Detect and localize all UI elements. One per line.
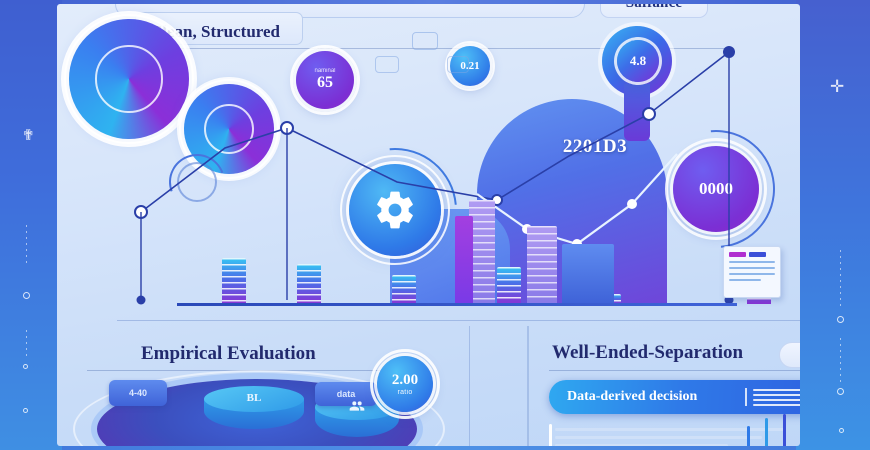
wireframe-node [412, 32, 438, 50]
dotted-divider [840, 250, 841, 310]
bar-item [297, 264, 321, 304]
tag-left[interactable]: 4-40 [109, 380, 167, 406]
doc-text-line [729, 279, 761, 281]
dashboard-canvas: Saffance Clean, Structured 2201D3 [57, 4, 800, 446]
mini-bar-group [747, 418, 800, 446]
pill-divider [745, 388, 747, 406]
decision-pill-button[interactable]: Data-derived decision [549, 380, 800, 414]
disc-primary: BL [204, 386, 304, 430]
bar-item [392, 275, 416, 304]
document-card-tabs [729, 252, 775, 257]
bottom-panel-divider-accent [527, 326, 529, 446]
disc-primary-label: BL [204, 392, 304, 404]
mini-bar [747, 426, 750, 446]
bottom-right-heading: Well-Ended-Separation [552, 342, 743, 364]
data-point-marker [135, 206, 147, 218]
bar-item [222, 258, 246, 304]
users-icon [347, 398, 367, 414]
dotted-divider [840, 338, 841, 382]
doc-text-line [729, 273, 775, 275]
doc-text-line [729, 261, 775, 263]
wireframe-node [375, 56, 399, 73]
mini-bar [765, 418, 768, 446]
panel-separator [117, 320, 800, 321]
frame-left-band: ✟ [0, 0, 62, 450]
settings-toggle[interactable] [779, 342, 800, 368]
tag-right[interactable]: data [315, 382, 377, 406]
data-point-marker [281, 122, 293, 134]
plus-sparkle-icon: ✛ [830, 78, 844, 95]
top-right-pill-label: Saffance [626, 4, 683, 12]
badge-ratio-ring [370, 349, 440, 419]
poster-root: ✟ ✛ Saffance Clean, Structured 2201D3 [0, 0, 870, 450]
top-right-pill-button[interactable]: Saffance [600, 4, 708, 18]
bar-item [497, 267, 521, 304]
sparkle-icon: ✟ [22, 128, 35, 143]
mini-bar [783, 414, 786, 446]
dot-marker-icon [23, 292, 30, 299]
document-card[interactable] [723, 246, 781, 298]
dot-marker-icon [839, 428, 844, 433]
badge-purple-ring [290, 45, 360, 115]
dotted-divider [26, 330, 27, 358]
dot-marker-icon [837, 388, 844, 395]
wireframe-node [447, 56, 469, 73]
bottom-right-rule [549, 370, 800, 371]
axis-dot [137, 296, 146, 305]
decision-pill-label: Data-derived decision [567, 389, 697, 405]
tag-left-label: 4-40 [129, 388, 147, 398]
building-shape [562, 244, 614, 303]
building-shape [455, 216, 473, 303]
chart-baseline [177, 303, 737, 306]
doc-tab-blue [749, 252, 766, 257]
building-shape [527, 226, 557, 303]
dot-marker-icon [23, 408, 28, 413]
decor-ring [177, 162, 217, 202]
dot-marker-icon [837, 316, 844, 323]
doc-text-line [729, 267, 775, 269]
doc-tab-magenta [729, 252, 746, 257]
pill-lines-icon [753, 389, 800, 409]
bottom-left-heading: Empirical Evaluation [141, 343, 316, 365]
text-block-marker [549, 424, 552, 446]
dotted-divider [26, 225, 27, 265]
bottom-panel-divider [469, 326, 470, 446]
frame-right-band: ✛ [796, 0, 870, 450]
dot-marker-icon [23, 364, 28, 369]
badge-key-score: 4.8 [617, 40, 659, 82]
key-badge-stem [624, 84, 650, 141]
